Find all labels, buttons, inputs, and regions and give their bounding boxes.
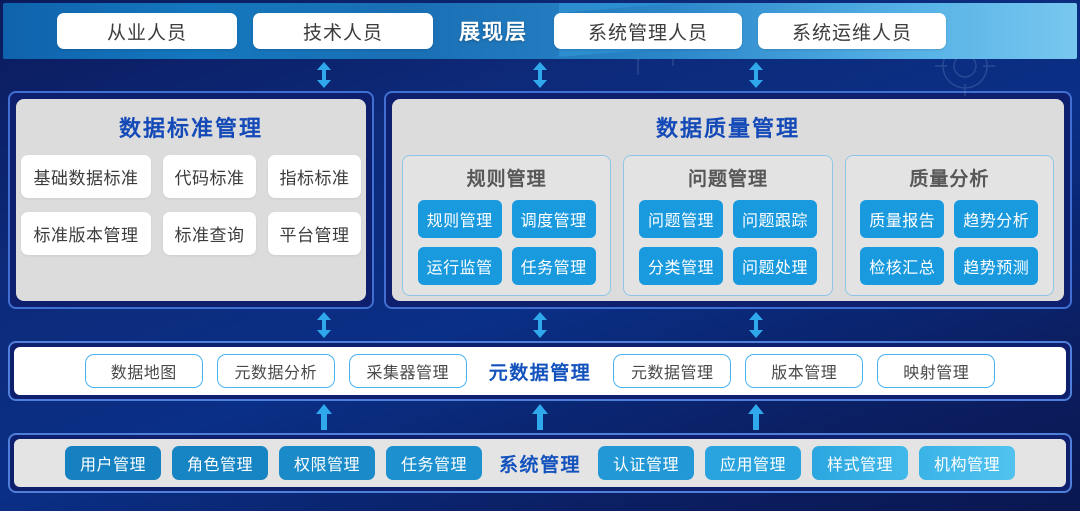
sys-btn-role-management[interactable]: 角色管理	[172, 446, 268, 480]
sys-btn-user-management[interactable]: 用户管理	[65, 446, 161, 480]
btn-classification-management[interactable]: 分类管理	[639, 247, 723, 285]
sys-btn-style-management[interactable]: 样式管理	[812, 446, 908, 480]
subcard-rule-management: 规则管理 规则管理 调度管理 运行监管 任务管理	[402, 155, 611, 296]
tile-platform-management[interactable]: 平台管理	[268, 212, 361, 255]
btn-run-monitoring[interactable]: 运行监管	[418, 247, 502, 285]
double-arrow-vertical-icon	[316, 62, 332, 88]
system-management-title: 系统管理	[493, 450, 587, 477]
double-arrow-vertical-icon	[748, 62, 764, 88]
subcard-issue-management: 问题管理 问题管理 问题跟踪 分类管理 问题处理	[623, 155, 832, 296]
double-arrow-vertical-icon	[532, 62, 548, 88]
double-arrow-vertical-icon	[748, 312, 764, 338]
role-chip-practitioner[interactable]: 从业人员	[57, 13, 237, 49]
arrow-up-icon	[747, 404, 765, 430]
metadata-management-title: 元数据管理	[481, 358, 600, 385]
quality-subcards: 规则管理 规则管理 调度管理 运行监管 任务管理	[402, 155, 1054, 296]
sys-btn-auth-management[interactable]: 认证管理	[598, 446, 694, 480]
sys-btn-application-management[interactable]: 应用管理	[705, 446, 801, 480]
data-quality-panel: 数据质量管理 规则管理 规则管理 调度管理 运行监管 任务管理	[384, 91, 1072, 309]
btn-audit-summary[interactable]: 检核汇总	[860, 247, 944, 285]
connector-row-top	[0, 59, 1080, 91]
btn-task-management[interactable]: 任务管理	[512, 247, 596, 285]
sys-btn-permission-management[interactable]: 权限管理	[279, 446, 375, 480]
meta-chip-metadata-analysis[interactable]: 元数据分析	[217, 354, 335, 388]
presentation-layer-title: 展现层	[449, 16, 538, 46]
data-standard-tiles: 基础数据标准 代码标准 指标标准 标准版本管理 标准查询 平台管理	[26, 155, 356, 255]
btn-rule-management[interactable]: 规则管理	[418, 200, 502, 238]
data-standard-title: 数据标准管理	[26, 111, 356, 143]
btn-issue-tracking[interactable]: 问题跟踪	[733, 200, 817, 238]
btn-issue-handling[interactable]: 问题处理	[733, 247, 817, 285]
btn-issue-management[interactable]: 问题管理	[639, 200, 723, 238]
meta-chip-mapping-management[interactable]: 映射管理	[877, 354, 995, 388]
tile-standard-version-management[interactable]: 标准版本管理	[21, 212, 151, 255]
btn-schedule-management[interactable]: 调度管理	[512, 200, 596, 238]
arrow-up-icon	[531, 404, 549, 430]
tile-standard-query[interactable]: 标准查询	[163, 212, 256, 255]
connector-row-middle	[0, 309, 1080, 341]
subcard-title: 质量分析	[854, 164, 1045, 191]
tile-indicator-standard[interactable]: 指标标准	[268, 155, 361, 198]
meta-chip-version-management[interactable]: 版本管理	[745, 354, 863, 388]
btn-trend-analysis[interactable]: 趋势分析	[954, 200, 1038, 238]
meta-chip-collector-management[interactable]: 采集器管理	[349, 354, 467, 388]
role-chip-system-admin[interactable]: 系统管理人员	[554, 13, 742, 49]
role-chip-technician[interactable]: 技术人员	[253, 13, 433, 49]
role-chip-system-ops[interactable]: 系统运维人员	[758, 13, 946, 49]
data-quality-title: 数据质量管理	[402, 111, 1054, 143]
sys-btn-org-management[interactable]: 机构管理	[919, 446, 1015, 480]
meta-chip-metadata-management[interactable]: 元数据管理	[613, 354, 731, 388]
data-standard-panel: 数据标准管理 基础数据标准 代码标准 指标标准 标准版本管理 标准查询 平台管理	[8, 91, 374, 309]
tile-basic-data-standard[interactable]: 基础数据标准	[21, 155, 151, 198]
architecture-diagram: 从业人员 技术人员 展现层 系统管理人员 系统运维人员 数据标准管理 基础	[0, 0, 1080, 511]
middle-section: 数据标准管理 基础数据标准 代码标准 指标标准 标准版本管理 标准查询 平台管理	[0, 91, 1080, 309]
connector-row-bottom	[0, 401, 1080, 433]
presentation-layer-band: 从业人员 技术人员 展现层 系统管理人员 系统运维人员	[3, 3, 1077, 59]
subcard-quality-analysis: 质量分析 质量报告 趋势分析 检核汇总 趋势预测	[845, 155, 1054, 296]
meta-chip-data-map[interactable]: 数据地图	[85, 354, 203, 388]
tile-row: 基础数据标准 代码标准 指标标准	[21, 155, 361, 198]
metadata-management-band: 数据地图 元数据分析 采集器管理 元数据管理 元数据管理 版本管理 映射管理	[8, 341, 1072, 401]
tile-row: 标准版本管理 标准查询 平台管理	[21, 212, 361, 255]
subcard-title: 规则管理	[411, 164, 602, 191]
arrow-up-icon	[315, 404, 333, 430]
system-management-band: 用户管理 角色管理 权限管理 任务管理 系统管理 认证管理 应用管理 样式管理 …	[8, 433, 1072, 493]
sys-btn-task-management[interactable]: 任务管理	[386, 446, 482, 480]
btn-quality-report[interactable]: 质量报告	[860, 200, 944, 238]
tile-code-standard[interactable]: 代码标准	[163, 155, 256, 198]
double-arrow-vertical-icon	[532, 312, 548, 338]
double-arrow-vertical-icon	[316, 312, 332, 338]
btn-trend-forecast[interactable]: 趋势预测	[954, 247, 1038, 285]
subcard-title: 问题管理	[632, 164, 823, 191]
